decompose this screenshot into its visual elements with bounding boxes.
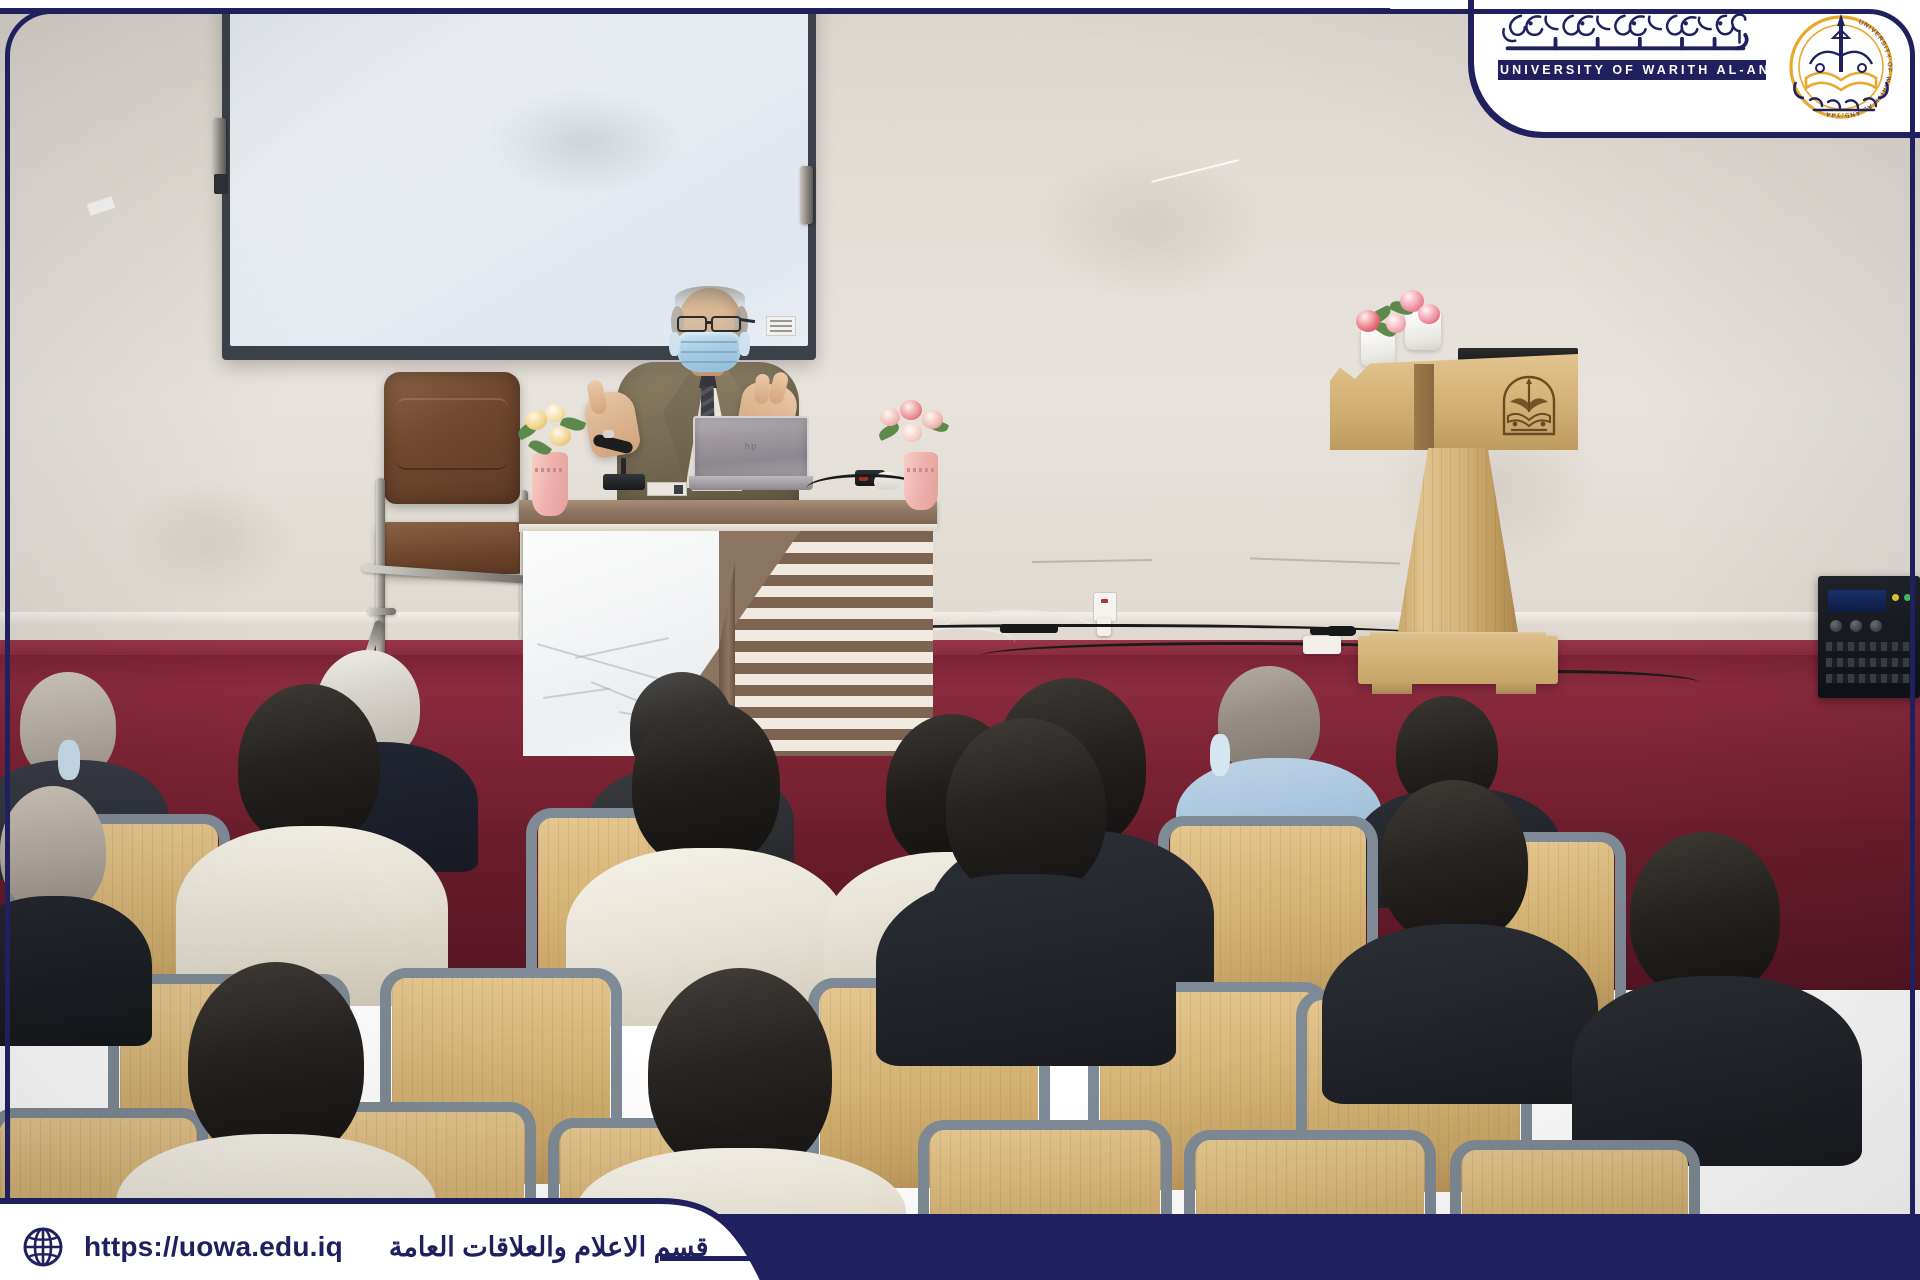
screenshot-root: hp <box>0 0 1920 1280</box>
whiteboard-bracket-right <box>800 166 813 224</box>
mixer-display <box>1828 590 1886 612</box>
globe-icon <box>22 1226 64 1268</box>
department-name-arabic: قسم الاعلام والعلاقات العامة <box>389 1232 709 1263</box>
cable-connector <box>1000 624 1058 633</box>
laptop-brand-mark: hp <box>745 441 758 451</box>
leather-office-chair <box>352 372 536 652</box>
yellow-roses <box>515 402 587 458</box>
audio-mixer-rack <box>1818 576 1920 698</box>
desk-control-panel <box>647 482 687 496</box>
whiteboard-mount-screw <box>214 174 228 194</box>
university-emblem-engraving <box>1498 372 1560 444</box>
pink-vase-right <box>904 452 938 510</box>
top-navy-rule <box>0 8 1390 14</box>
seal-year: 2017 <box>1833 111 1850 120</box>
laptop: hp <box>689 416 813 494</box>
pink-vase <box>532 452 568 516</box>
footer-navy-rule <box>660 1256 1905 1261</box>
university-seal: UNIVERSITY OF WARITH AL-ANBIYAA <box>1780 6 1902 128</box>
university-logo-lockup: UNIVERSITY OF WARITH AL-ANBIYAA UNIVERSI… <box>1474 0 1920 132</box>
footer-bar: https://uowa.edu.iq قسم الاعلام والعلاقا… <box>0 1214 1920 1280</box>
desk-microphone-base <box>603 474 645 490</box>
website-url[interactable]: https://uowa.edu.iq <box>84 1231 343 1263</box>
logo-english-name: UNIVERSITY OF WARITH AL-ANBIYAA <box>1498 60 1766 80</box>
logo-arabic-calligraphy <box>1498 10 1755 56</box>
lecture-hall-photo: hp <box>0 0 1920 1280</box>
pink-flowers-desk <box>874 398 952 458</box>
whiteboard-bracket-left <box>213 118 226 176</box>
chair-backrest <box>384 372 520 504</box>
lecturer-glasses-left <box>677 316 707 332</box>
logo-wordmark: UNIVERSITY OF WARITH AL-ANBIYAA <box>1498 10 1766 80</box>
lecturer-glasses-right <box>711 316 741 332</box>
wooden-podium <box>1330 336 1578 708</box>
lecturer-face-mask <box>677 332 741 372</box>
